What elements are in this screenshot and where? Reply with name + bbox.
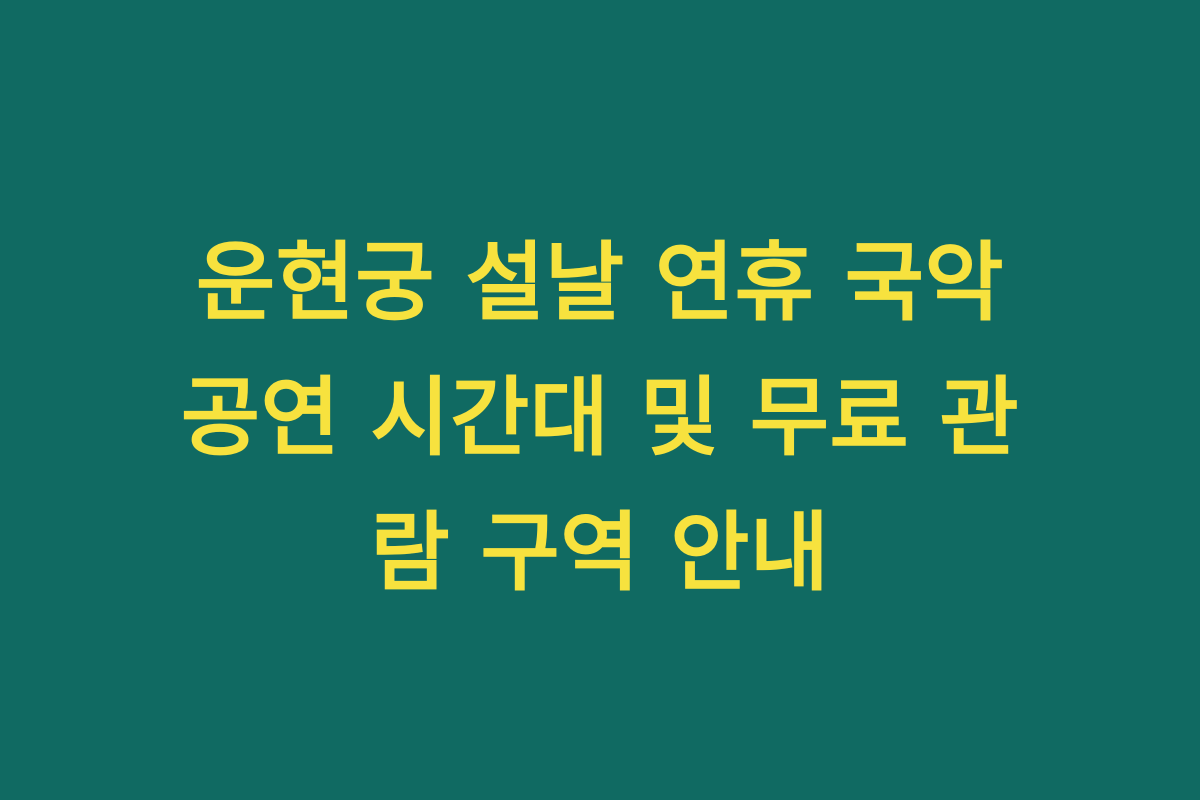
headline-line-2: 공연 시간대 및 무료 관 xyxy=(100,351,1100,486)
banner-card: 운현궁 설날 연휴 국악 공연 시간대 및 무료 관 람 구역 안내 xyxy=(0,0,1200,800)
headline-line-1: 운현궁 설날 연휴 국악 xyxy=(100,216,1100,351)
page-title: 운현궁 설날 연휴 국악 공연 시간대 및 무료 관 람 구역 안내 xyxy=(100,216,1100,621)
headline-line-3: 람 구역 안내 xyxy=(100,486,1100,621)
